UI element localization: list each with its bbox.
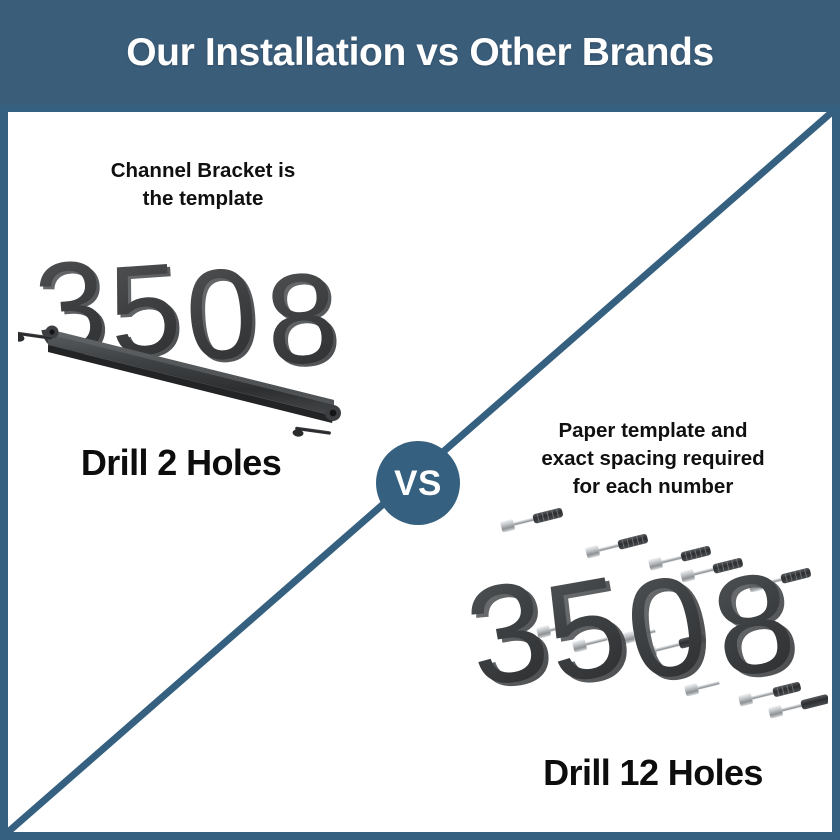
mounting-screw-2 [292,427,331,438]
right-headline: Drill 12 Holes [478,752,828,794]
svg-text:8: 8 [261,245,346,393]
left-headline: Drill 2 Holes [16,442,346,484]
page-title: Our Installation vs Other Brands [126,31,714,75]
standoff-numbers-product-image: 3 5 0 8 3 5 0 8 [458,502,828,752]
left-caption: Channel Bracket is the template [38,157,368,214]
content-panel: 3 5 0 8 3 5 0 8 [8,112,832,832]
right-caption-line-1: Paper template and [478,417,828,445]
right-caption: Paper template and exact spacing require… [478,417,828,501]
right-caption-line-3: for each number [478,473,828,501]
left-caption-line-2: the template [38,185,368,213]
vs-badge-label: VS [394,466,442,501]
vs-badge: VS [376,441,460,525]
channel-bracket-product-image: 3 5 0 8 3 5 0 8 [18,217,378,447]
header-banner: Our Installation vs Other Brands [0,0,840,105]
infographic-canvas: Our Installation vs Other Brands [0,0,840,840]
left-caption-line-1: Channel Bracket is [38,157,368,185]
right-caption-line-2: exact spacing required [478,445,828,473]
